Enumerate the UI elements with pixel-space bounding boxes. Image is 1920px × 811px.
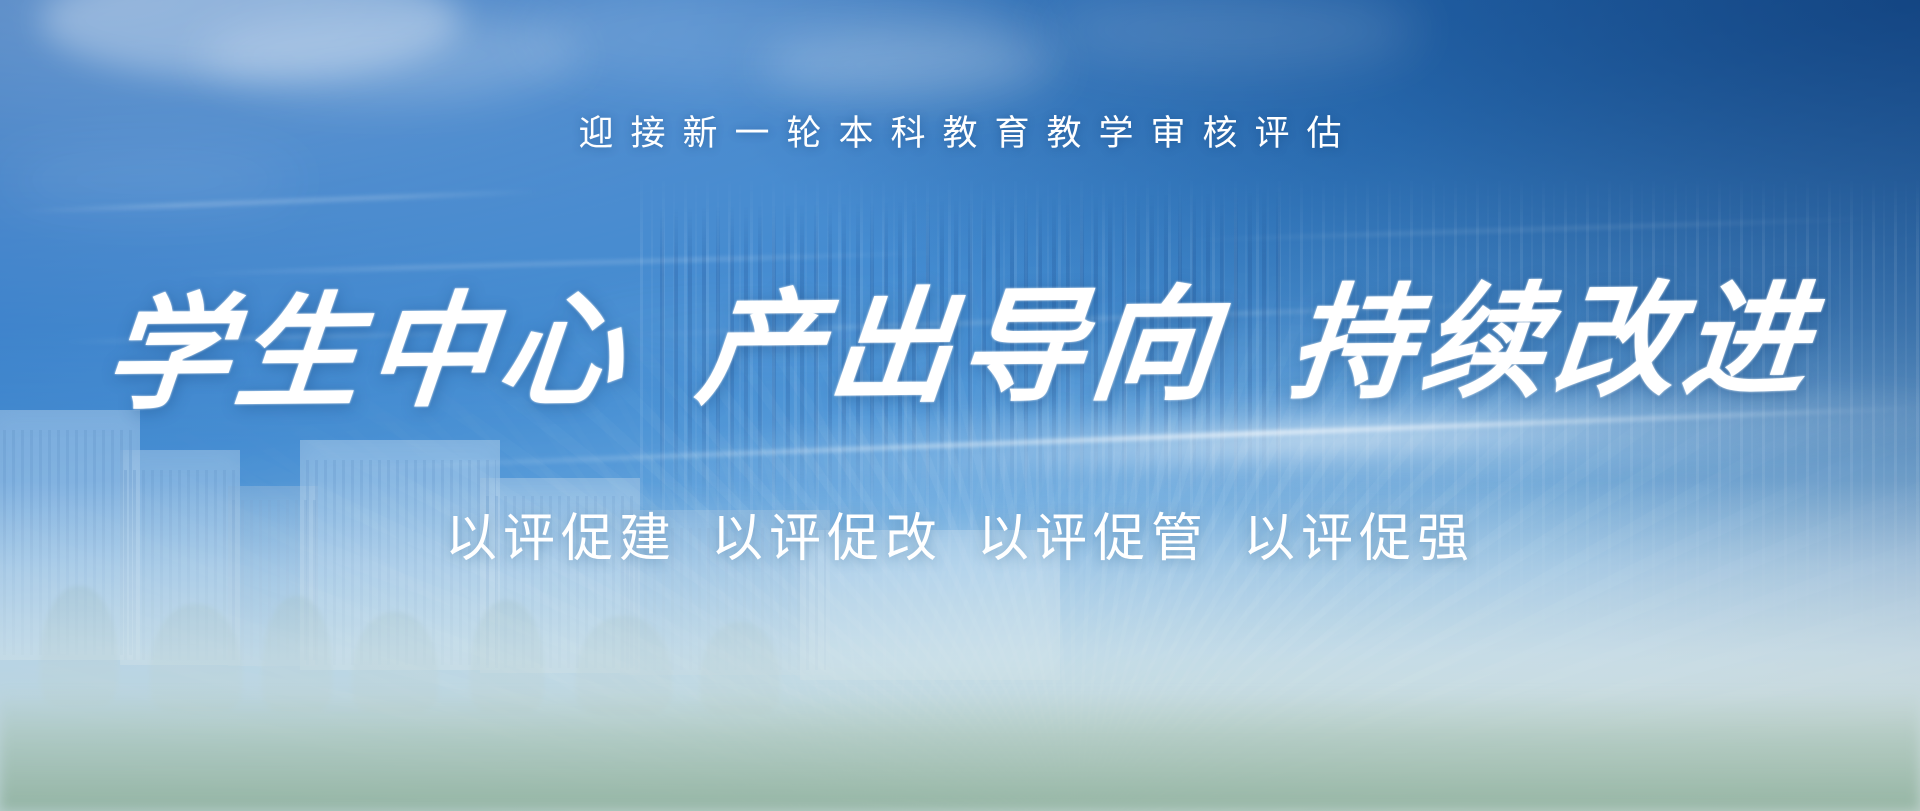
evaluation-banner: 迎接新一轮本科教育教学审核评估 学生中心产出导向持续改进 以评促建以评促改以评促…	[0, 0, 1920, 811]
main-slogan-group-1: 学生中心	[99, 289, 635, 418]
bottom-slogan-group-2: 以评促改	[711, 509, 943, 569]
text-layer: 迎接新一轮本科教育教学审核评估 学生中心产出导向持续改进 以评促建以评促改以评促…	[0, 0, 1920, 811]
main-slogan-group-2: 产出导向	[692, 284, 1228, 413]
top-headline: 迎接新一轮本科教育教学审核评估	[0, 116, 1920, 151]
bottom-slogan-group-4: 以评促强	[1243, 509, 1475, 569]
main-slogan-group-3: 持续改进	[1284, 279, 1820, 408]
main-slogan-spacer-1	[626, 392, 694, 393]
main-slogan-spacer-2	[1218, 387, 1286, 388]
bottom-slogan-group-1: 以评促建	[445, 509, 677, 569]
bottom-slogan-group-3: 以评促管	[977, 509, 1209, 569]
main-slogan: 学生中心产出导向持续改进	[0, 278, 1920, 419]
bottom-slogan: 以评促建以评促改以评促管以评促强	[0, 513, 1920, 565]
